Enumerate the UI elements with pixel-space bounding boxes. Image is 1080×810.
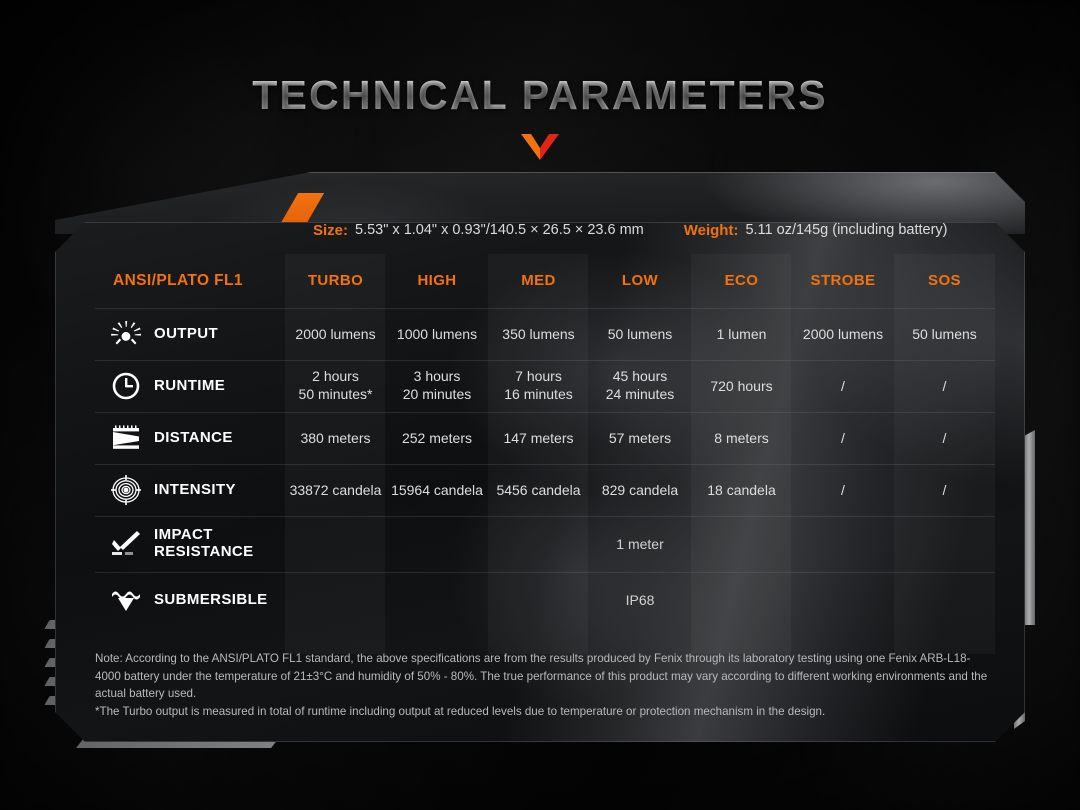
footnote: Note: According to the ANSI/PLATO FL1 st… — [95, 650, 995, 720]
beam-ruler-icon — [109, 423, 143, 453]
footnote-line-1: Note: According to the ANSI/PLATO FL1 st… — [95, 650, 995, 703]
header-sos: SOS — [894, 254, 995, 308]
target-icon — [109, 475, 143, 505]
header-med: MED — [488, 254, 589, 308]
header-low: LOW — [589, 254, 691, 308]
panel-content: Size: 5.53" x 1.04" x 0.93"/140.5 × 26.5… — [55, 172, 1025, 742]
row-label-text: INTENSITY — [154, 482, 236, 499]
cell-submersible-value: IP68 — [285, 572, 995, 628]
cell-runtime-med: 7 hours16 minutes — [488, 360, 589, 412]
clock-icon — [109, 371, 143, 401]
cell-output-turbo: 2000 lumens — [285, 308, 386, 360]
row-label-text: DISTANCE — [154, 430, 233, 447]
row-label-intensity: INTENSITY — [95, 464, 285, 516]
table-row: DISTANCE 380 meters 252 meters 147 meter… — [95, 412, 995, 464]
sunburst-icon — [109, 319, 143, 349]
table-header-row: ANSI/PLATO FL1 TURBO HIGH MED LOW ECO ST… — [95, 254, 995, 308]
cell-runtime-low: 45 hours24 minutes — [589, 360, 691, 412]
weight-value: 5.11 oz/145g (including battery) — [745, 222, 947, 238]
header-strobe: STROBE — [792, 254, 894, 308]
footnote-line-2: *The Turbo output is measured in total o… — [95, 703, 995, 721]
cell-impact-resistance-value: 1 meter — [285, 516, 995, 572]
cell-runtime-high: 3 hours20 minutes — [386, 360, 488, 412]
cell-runtime-sos: / — [894, 360, 995, 412]
row-label-output: OUTPUT — [95, 308, 285, 360]
row-label-submersible: SUBMERSIBLE — [95, 572, 285, 628]
row-label-distance: DISTANCE — [95, 412, 285, 464]
cell-runtime-strobe: / — [792, 360, 894, 412]
page-title: TECHNICAL PARAMETERS — [0, 72, 1080, 119]
size-weight-row: Size: 5.53" x 1.04" x 0.93"/140.5 × 26.5… — [55, 212, 1025, 248]
spec-table: ANSI/PLATO FL1 TURBO HIGH MED LOW ECO ST… — [95, 254, 995, 628]
weight-label: Weight: — [684, 222, 739, 239]
cell-output-strobe: 2000 lumens — [792, 308, 894, 360]
impact-arrow-icon — [109, 529, 143, 559]
size-value: 5.53" x 1.04" x 0.93"/140.5 × 26.5 × 23.… — [355, 222, 644, 238]
cell-output-low: 50 lumens — [589, 308, 691, 360]
row-label-text: RUNTIME — [154, 378, 225, 395]
cell-distance-turbo: 380 meters — [285, 412, 386, 464]
cell-output-eco: 1 lumen — [691, 308, 792, 360]
row-label-text: IMPACTRESISTANCE — [154, 527, 254, 561]
chevron-down-icon — [0, 134, 1080, 165]
table-row: OUTPUT 2000 lumens 1000 lumens 350 lumen… — [95, 308, 995, 360]
row-label-text: SUBMERSIBLE — [154, 592, 268, 609]
cell-distance-high: 252 meters — [386, 412, 488, 464]
cell-output-sos: 50 lumens — [894, 308, 995, 360]
row-label-runtime: RUNTIME — [95, 360, 285, 412]
cell-distance-low: 57 meters — [589, 412, 691, 464]
cell-output-med: 350 lumens — [488, 308, 589, 360]
cell-intensity-low: 829 candela — [589, 464, 691, 516]
cell-intensity-sos: / — [894, 464, 995, 516]
cell-distance-eco: 8 meters — [691, 412, 792, 464]
cell-intensity-high: 15964 candela — [386, 464, 488, 516]
cell-intensity-strobe: / — [792, 464, 894, 516]
table-row: INTENSITY 33872 candela 15964 candela 54… — [95, 464, 995, 516]
table-row: IMPACTRESISTANCE 1 meter — [95, 516, 995, 572]
header-high: HIGH — [386, 254, 488, 308]
cell-intensity-turbo: 33872 candela — [285, 464, 386, 516]
cell-distance-med: 147 meters — [488, 412, 589, 464]
right-accent-bar-upper — [1024, 430, 1035, 625]
row-label-text: OUTPUT — [154, 326, 218, 343]
row-label-impact-resistance: IMPACTRESISTANCE — [95, 516, 285, 572]
size-label: Size: — [313, 222, 348, 239]
cell-runtime-turbo: 2 hours50 minutes* — [285, 360, 386, 412]
cell-intensity-med: 5456 candela — [488, 464, 589, 516]
cell-runtime-eco: 720 hours — [691, 360, 792, 412]
cell-output-high: 1000 lumens — [386, 308, 488, 360]
cell-distance-strobe: / — [792, 412, 894, 464]
header-eco: ECO — [691, 254, 792, 308]
table-row: RUNTIME 2 hours50 minutes* 3 hours20 min… — [95, 360, 995, 412]
header-turbo: TURBO — [285, 254, 386, 308]
header-ansi-plato: ANSI/PLATO FL1 — [95, 254, 285, 308]
table-row: SUBMERSIBLE IP68 — [95, 572, 995, 628]
water-drop-icon — [109, 585, 143, 615]
cell-intensity-eco: 18 candela — [691, 464, 792, 516]
cell-distance-sos: / — [894, 412, 995, 464]
